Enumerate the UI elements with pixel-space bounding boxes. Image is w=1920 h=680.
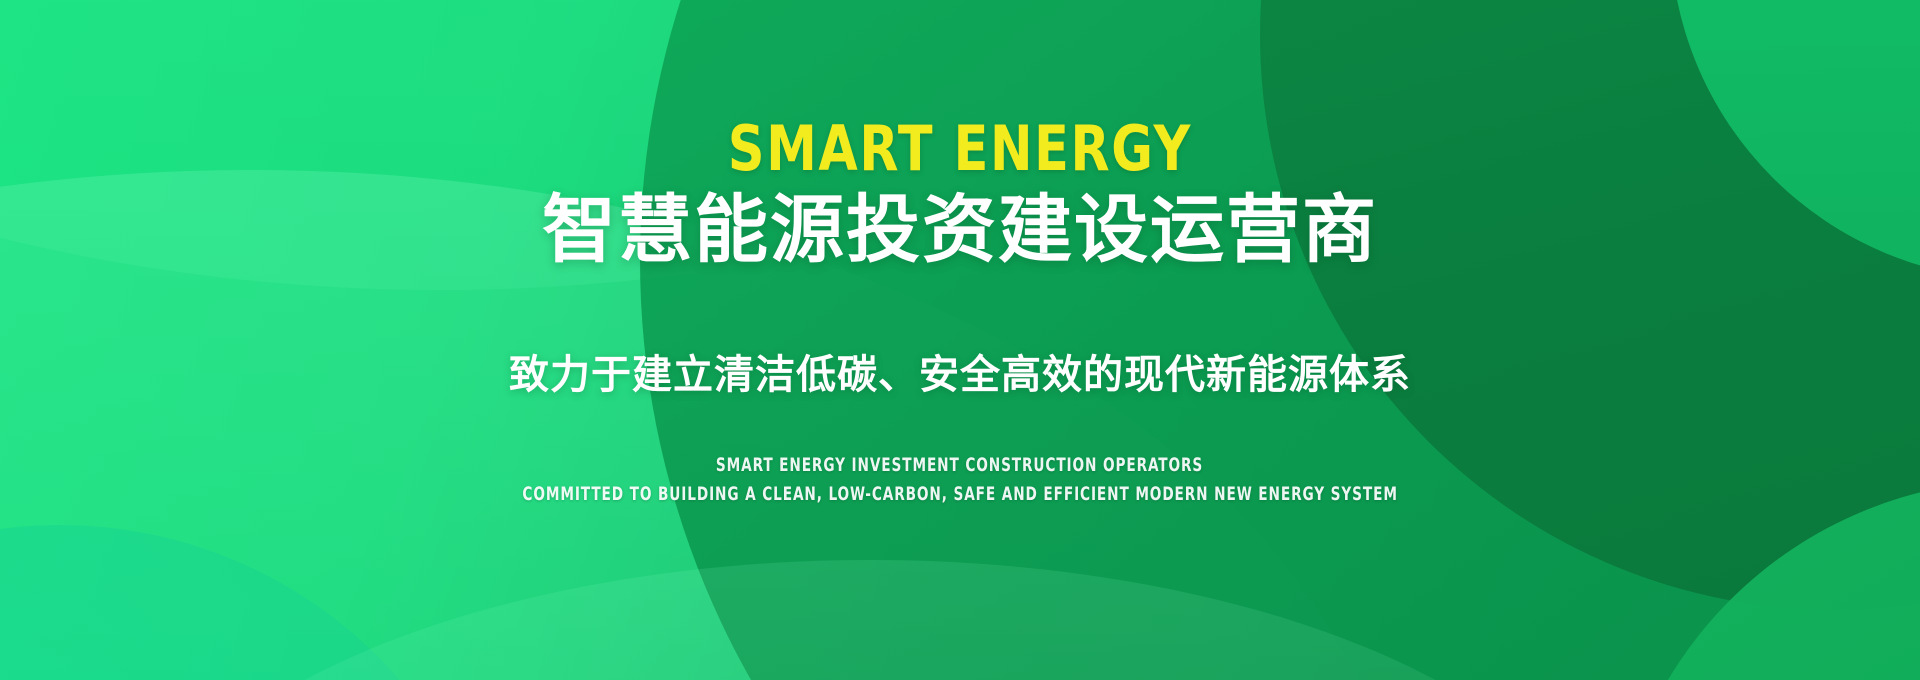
banner-english-line-1: SMART ENERGY INVESTMENT CONSTRUCTION OPE… bbox=[716, 454, 1203, 478]
banner-content: SMART ENERGY 智慧能源投资建设运营商 致力于建立清洁低碳、安全高效的… bbox=[0, 0, 1920, 680]
hero-banner: SMART ENERGY 智慧能源投资建设运营商 致力于建立清洁低碳、安全高效的… bbox=[0, 0, 1920, 680]
banner-subheadline: 致力于建立清洁低碳、安全高效的现代新能源体系 bbox=[509, 353, 1411, 397]
banner-english-line-2: COMMITTED TO BUILDING A CLEAN, LOW-CARBO… bbox=[522, 483, 1397, 507]
banner-english-block: SMART ENERGY INVESTMENT CONSTRUCTION OPE… bbox=[413, 454, 1507, 507]
banner-eyebrow: SMART ENERGY bbox=[728, 118, 1192, 180]
banner-headline: 智慧能源投资建设运营商 bbox=[542, 192, 1378, 270]
